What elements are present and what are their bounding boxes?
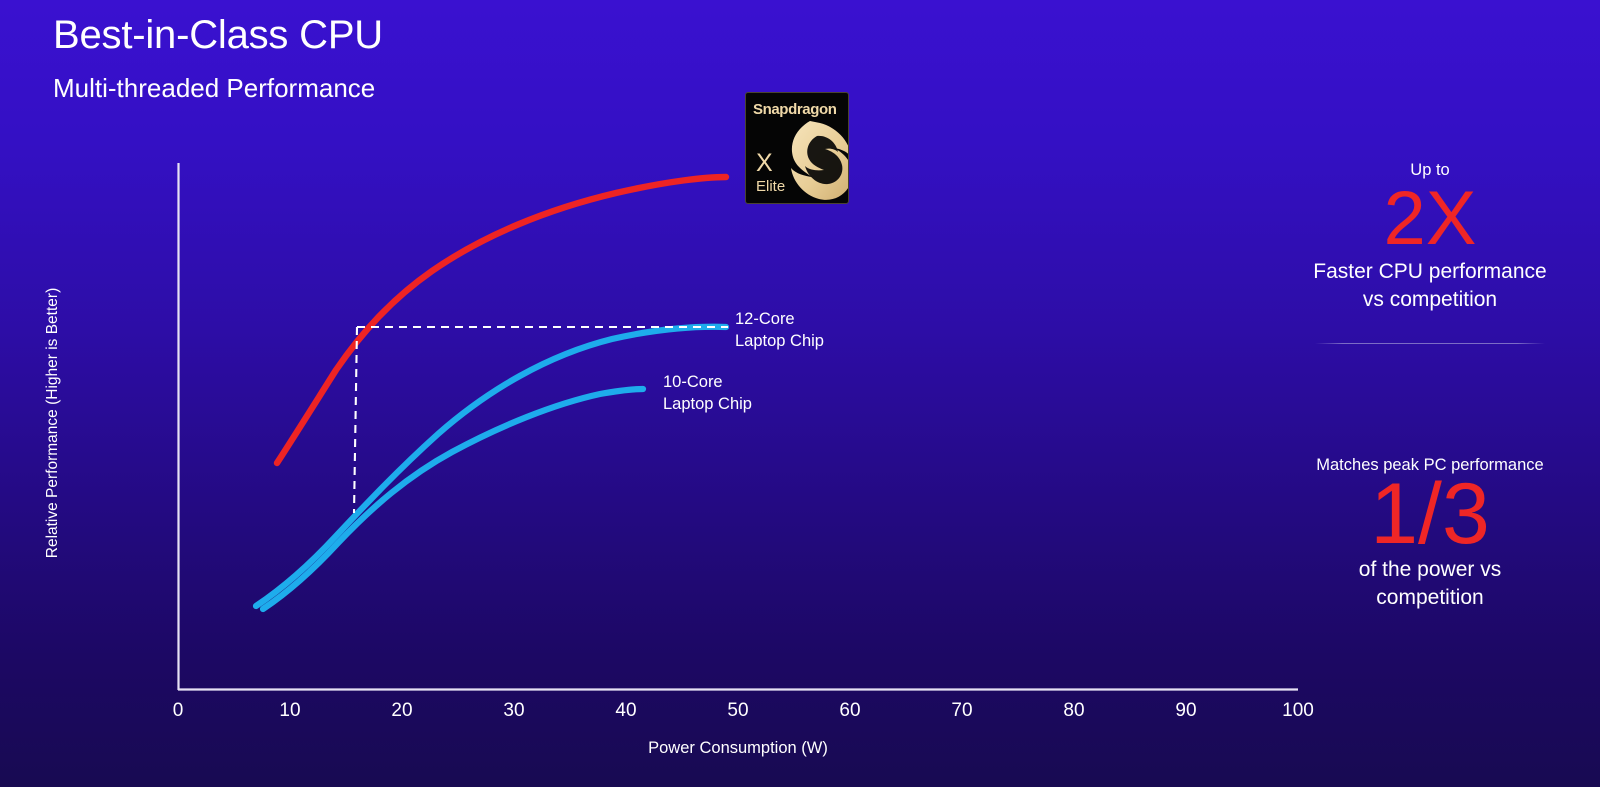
series-label-10-core-line2: Laptop Chip <box>663 394 752 416</box>
badge-brand-text: Snapdragon <box>753 101 837 118</box>
stat-value-one-third: 1/3 <box>1310 475 1550 554</box>
series-line-snapdragon-x-elite <box>277 177 726 463</box>
series-label-10-core: 10-Core Laptop Chip <box>663 372 752 416</box>
x-tick-80: 80 <box>1044 700 1104 722</box>
snapdragon-dragon-icon <box>780 119 849 204</box>
badge-tier-text: X <box>756 151 773 176</box>
x-tick-100: 100 <box>1268 700 1328 722</box>
x-axis-title: Power Consumption (W) <box>178 739 1298 758</box>
x-tick-50: 50 <box>708 700 768 722</box>
parity-guideline-vertical <box>354 327 357 513</box>
x-tick-10: 10 <box>260 700 320 722</box>
y-axis-title: Relative Performance (Higher is Better) <box>44 258 62 588</box>
x-tick-30: 30 <box>484 700 544 722</box>
x-tick-90: 90 <box>1156 700 1216 722</box>
series-label-12-core-line2: Laptop Chip <box>735 331 824 353</box>
x-tick-0: 0 <box>148 700 208 722</box>
stat-body-power: of the power vs competition <box>1310 556 1550 613</box>
series-label-12-core-line1: 12-Core <box>735 309 824 331</box>
series-line-12-core <box>256 327 726 606</box>
stat-divider <box>1315 343 1545 344</box>
badge-edition-text: Elite <box>756 179 785 194</box>
series-label-12-core: 12-Core Laptop Chip <box>735 309 824 353</box>
x-tick-40: 40 <box>596 700 656 722</box>
snapdragon-x-elite-badge: Snapdragon X Elite <box>745 92 849 204</box>
stat-block-performance: Up to 2X Faster CPU performance vs compe… <box>1310 160 1550 344</box>
series-label-10-core-line1: 10-Core <box>663 372 752 394</box>
x-tick-70: 70 <box>932 700 992 722</box>
stat-block-power: Matches peak PC performance 1/3 of the p… <box>1310 455 1550 613</box>
x-tick-60: 60 <box>820 700 880 722</box>
x-tick-20: 20 <box>372 700 432 722</box>
stat-body-performance: Faster CPU performance vs competition <box>1310 258 1550 315</box>
stat-value-2x: 2X <box>1310 184 1550 254</box>
performance-chart: Relative Performance (Higher is Better) … <box>0 0 1340 787</box>
